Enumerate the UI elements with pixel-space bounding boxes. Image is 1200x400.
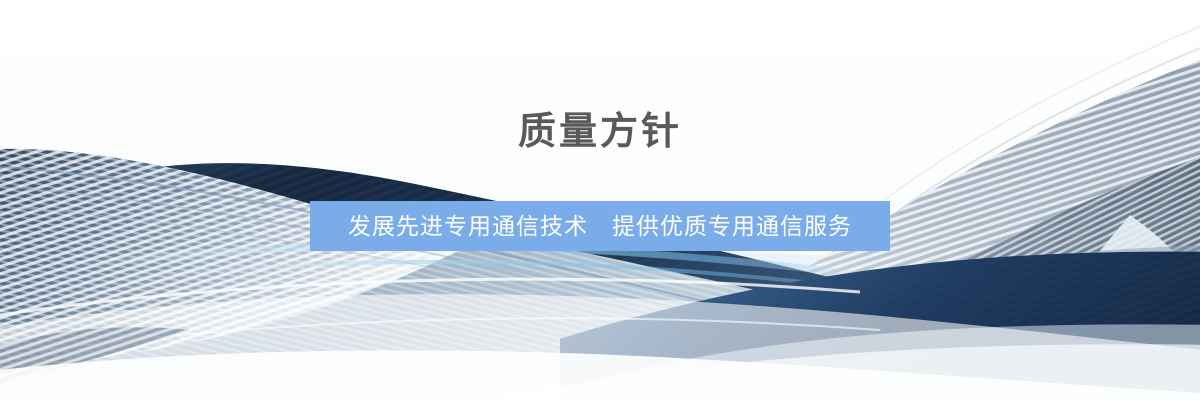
page-title: 质量方针 xyxy=(0,112,1200,154)
slogan-text: 发展先进专用通信技术 提供优质专用通信服务 xyxy=(348,215,852,238)
slogan-bar: 发展先进专用通信技术 提供优质专用通信服务 xyxy=(310,201,890,251)
quality-policy-banner: 质量方针 发展先进专用通信技术 提供优质专用通信服务 xyxy=(0,0,1200,400)
banner-content: 质量方针 发展先进专用通信技术 提供优质专用通信服务 xyxy=(0,0,1200,400)
